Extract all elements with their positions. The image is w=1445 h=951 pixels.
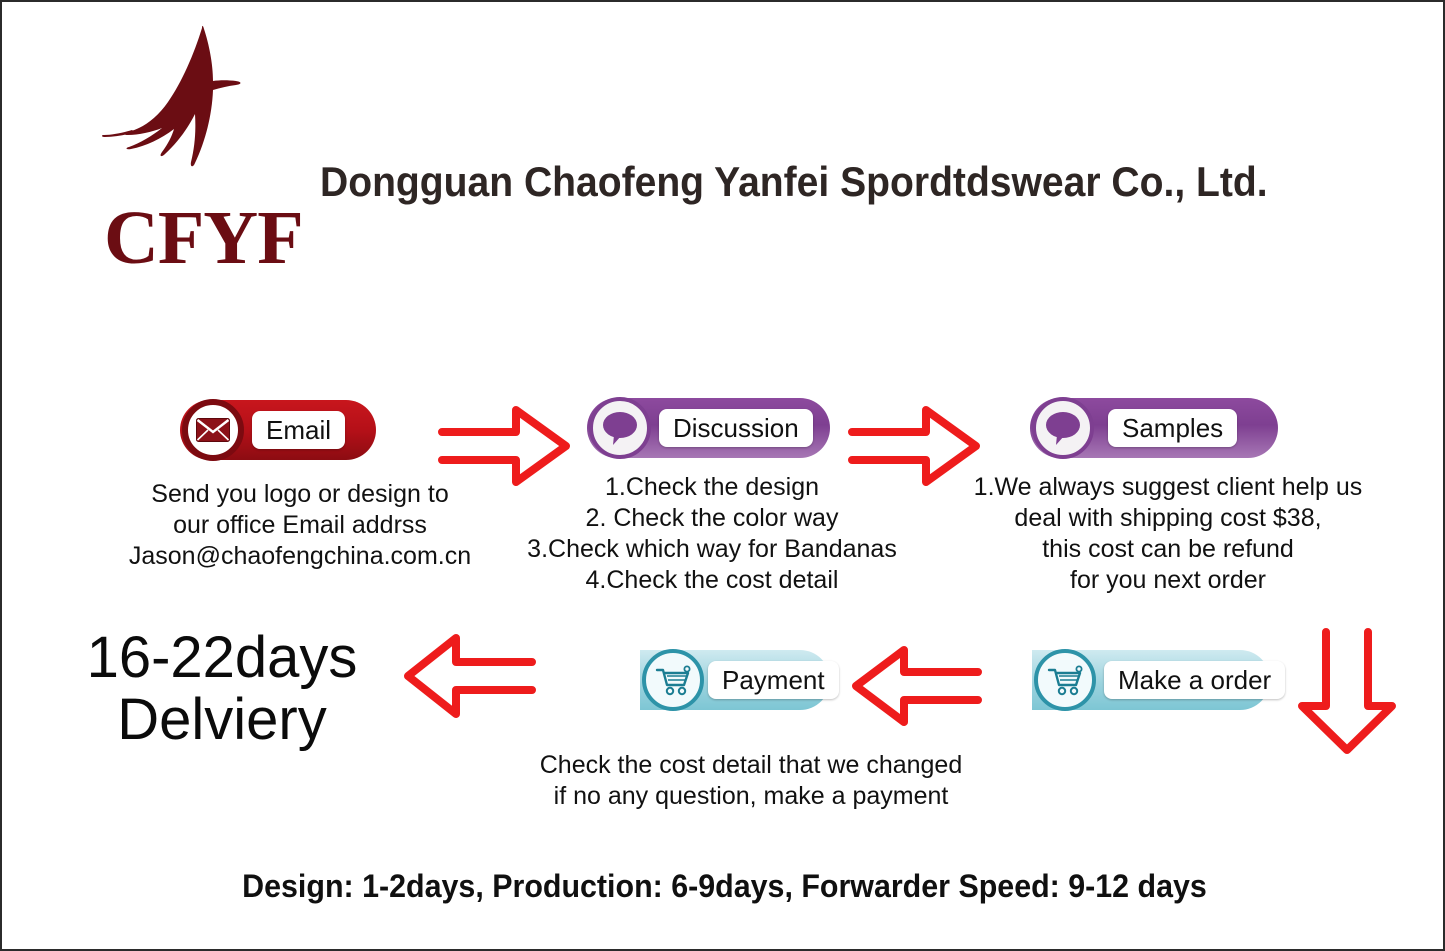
text-line: 1.Check the design — [502, 472, 922, 503]
step-badge-make-a-order[interactable]: Make a order — [1032, 650, 1270, 710]
step-badge-email[interactable]: Email — [180, 400, 376, 460]
email-description: Send you logo or design to our office Em… — [100, 479, 500, 572]
arrow-samples-to-order-icon — [1292, 624, 1402, 756]
discussion-description: 1.Check the design 2. Check the color wa… — [502, 472, 922, 596]
discussion-label-box: Discussion — [659, 409, 813, 447]
cfyf-wordmark: CFYF — [104, 200, 303, 276]
samples-description: 1.We always suggest client help us deal … — [950, 472, 1386, 596]
email-label: Email — [266, 417, 331, 443]
payment-label-box: Payment — [708, 661, 839, 699]
step-badge-discussion[interactable]: Discussion — [587, 398, 830, 458]
company-logo: CFYF — [102, 24, 322, 284]
speech-bubble-icon — [1032, 397, 1094, 459]
delivery-line: 16-22days — [42, 627, 402, 689]
text-line: Jason@chaofengchina.com.cn — [100, 541, 500, 572]
text-line: Send you logo or design to — [100, 479, 500, 510]
delivery-time-callout: 16-22days Delviery — [42, 627, 402, 751]
speech-bubble-icon — [589, 397, 651, 459]
payment-label: Payment — [722, 667, 825, 693]
shopping-cart-icon — [1034, 649, 1096, 711]
flyer-page: CFYF Dongguan Chaofeng Yanfei Spordtdswe… — [0, 0, 1445, 951]
page-title: Dongguan Chaofeng Yanfei Spordtdswear Co… — [320, 158, 1268, 206]
text-line: 4.Check the cost detail — [502, 565, 922, 596]
order-label-box: Make a order — [1104, 661, 1285, 699]
discussion-label: Discussion — [673, 415, 799, 441]
text-line: 1.We always suggest client help us — [950, 472, 1386, 503]
text-line: 3.Check which way for Bandanas — [502, 534, 922, 565]
text-line: this cost can be refund — [950, 534, 1386, 565]
samples-label: Samples — [1122, 415, 1223, 441]
step-badge-samples[interactable]: Samples — [1030, 398, 1278, 458]
delivery-line: Delviery — [42, 689, 402, 751]
text-line: 2. Check the color way — [502, 503, 922, 534]
shopping-cart-icon — [642, 649, 704, 711]
arrow-order-to-payment-icon — [850, 642, 986, 730]
flying-bird-icon — [102, 24, 292, 204]
text-line: Check the cost detail that we changed — [512, 750, 990, 781]
step-badge-payment[interactable]: Payment — [640, 650, 830, 710]
text-line: deal with shipping cost $38, — [950, 503, 1386, 534]
order-label: Make a order — [1118, 667, 1271, 693]
text-line: for you next order — [950, 565, 1386, 596]
arrow-payment-to-delivery-icon — [400, 630, 540, 722]
envelope-icon — [182, 399, 244, 461]
samples-label-box: Samples — [1108, 409, 1237, 447]
timeline-footer: Design: 1-2days, Production: 6-9days, Fo… — [38, 868, 1411, 905]
text-line: if no any question, make a payment — [512, 781, 990, 812]
email-label-box: Email — [252, 411, 345, 449]
text-line: our office Email addrss — [100, 510, 500, 541]
payment-description: Check the cost detail that we changed if… — [512, 750, 990, 812]
